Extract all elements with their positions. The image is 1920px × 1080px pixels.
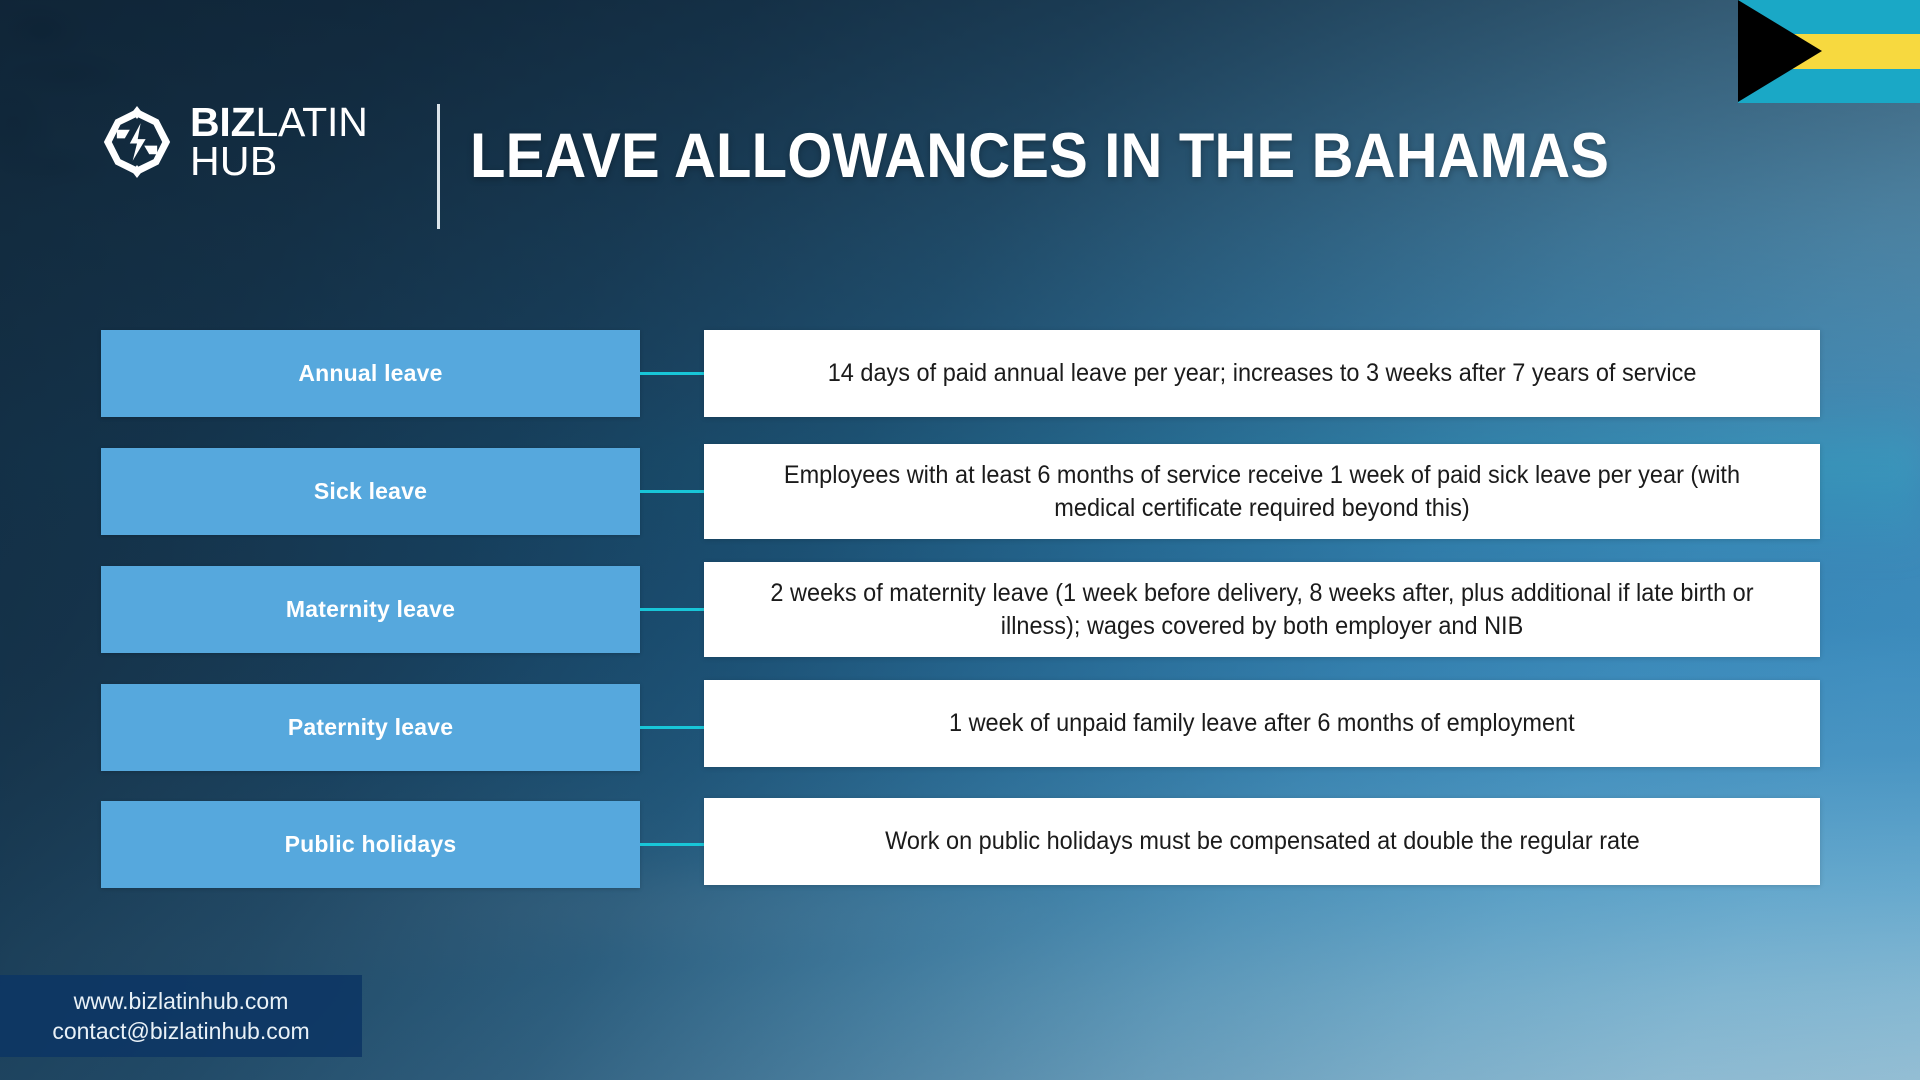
leave-type-label-box[interactable]: Maternity leave [101, 566, 640, 653]
leave-detail-text: 14 days of paid annual leave per year; i… [828, 357, 1697, 390]
leave-detail-box: 14 days of paid annual leave per year; i… [704, 330, 1820, 417]
leave-type-label: Maternity leave [286, 596, 455, 623]
leave-detail-box: Employees with at least 6 months of serv… [704, 444, 1820, 539]
leave-type-label-box[interactable]: Annual leave [101, 330, 640, 417]
leave-detail-box: 2 weeks of maternity leave (1 week befor… [704, 562, 1820, 657]
connector-line [640, 490, 704, 493]
leave-detail-box: 1 week of unpaid family leave after 6 mo… [704, 680, 1820, 767]
leave-detail-text: 2 weeks of maternity leave (1 week befor… [762, 577, 1762, 643]
connector-line [640, 372, 704, 375]
leave-type-label-box[interactable]: Public holidays [101, 801, 640, 888]
leave-allowances-table: Annual leave14 days of paid annual leave… [0, 0, 1920, 1080]
leave-detail-text: Work on public holidays must be compensa… [885, 825, 1640, 858]
contact-footer: www.bizlatinhub.com contact@bizlatinhub.… [0, 975, 362, 1057]
connector-line [640, 608, 704, 611]
leave-type-label: Paternity leave [288, 714, 453, 741]
leave-type-label: Annual leave [298, 360, 442, 387]
leave-detail-text: 1 week of unpaid family leave after 6 mo… [949, 707, 1575, 740]
leave-detail-box: Work on public holidays must be compensa… [704, 798, 1820, 885]
leave-detail-text: Employees with at least 6 months of serv… [762, 459, 1762, 525]
footer-website[interactable]: www.bizlatinhub.com [74, 987, 289, 1015]
leave-type-label: Public holidays [285, 831, 457, 858]
leave-type-label-box[interactable]: Sick leave [101, 448, 640, 535]
leave-type-label-box[interactable]: Paternity leave [101, 684, 640, 771]
connector-line [640, 726, 704, 729]
leave-type-label: Sick leave [314, 478, 427, 505]
footer-email[interactable]: contact@bizlatinhub.com [52, 1017, 309, 1045]
connector-line [640, 843, 704, 846]
